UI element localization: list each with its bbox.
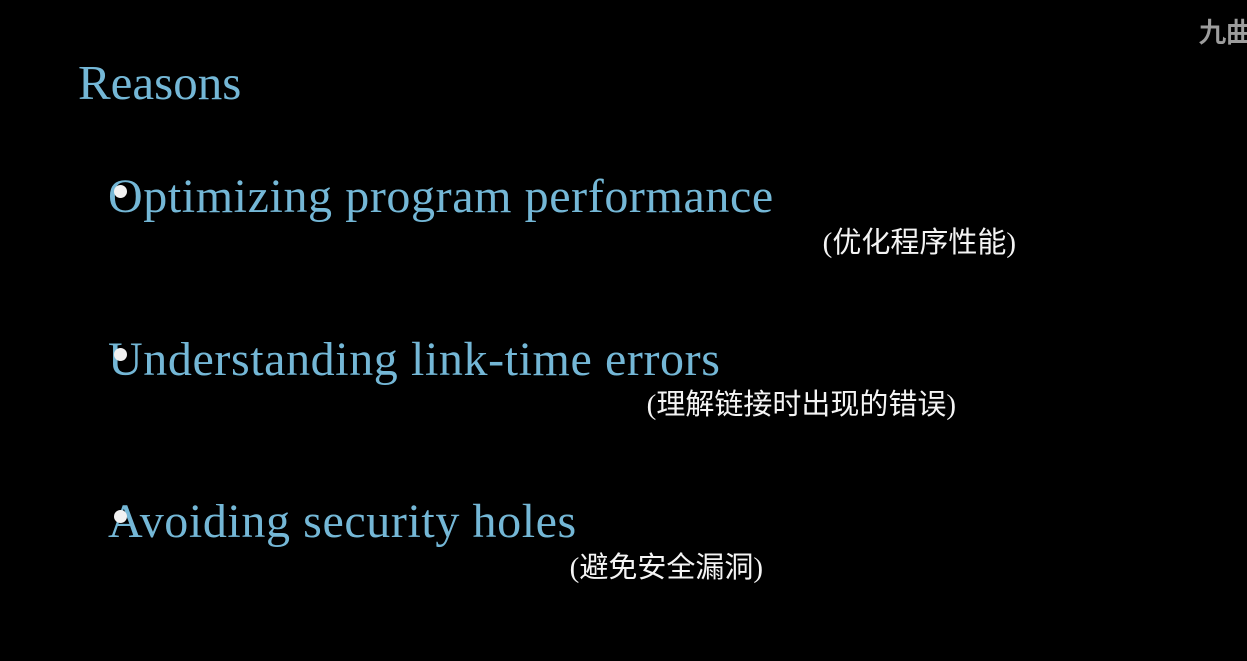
list-item-body: Optimizing program performance (优化程序性能)	[108, 152, 1188, 261]
list-item-body: Understanding link-time errors (理解链接时出现的…	[108, 315, 1188, 424]
bullet-dot-icon	[114, 185, 127, 198]
bullet-list: Optimizing program performance (优化程序性能) …	[108, 152, 1188, 586]
corner-watermark-label: 九曲	[1199, 20, 1247, 47]
list-item-label-english: Optimizing program performance	[108, 170, 1188, 224]
slide-root: { "slide": { "background_color": "#00000…	[0, 0, 1247, 661]
bullet-dot-icon	[114, 348, 127, 361]
list-item: Avoiding security holes (避免安全漏洞)	[108, 477, 1188, 586]
list-item-label-english: Understanding link-time errors	[108, 333, 1188, 387]
list-item-body: Avoiding security holes (避免安全漏洞)	[108, 477, 1188, 586]
list-item-label-chinese: (理解链接时出现的错误)	[108, 388, 1188, 423]
list-item: Optimizing program performance (优化程序性能)	[108, 152, 1188, 261]
bullet-dot-icon	[114, 510, 127, 523]
page-title: Reasons	[78, 56, 241, 110]
list-item-label-chinese: (优化程序性能)	[108, 226, 1188, 261]
list-item: Understanding link-time errors (理解链接时出现的…	[108, 315, 1188, 424]
list-item-label-chinese: (避免安全漏洞)	[108, 551, 1188, 586]
list-item-label-english: Avoiding security holes	[108, 495, 1188, 549]
